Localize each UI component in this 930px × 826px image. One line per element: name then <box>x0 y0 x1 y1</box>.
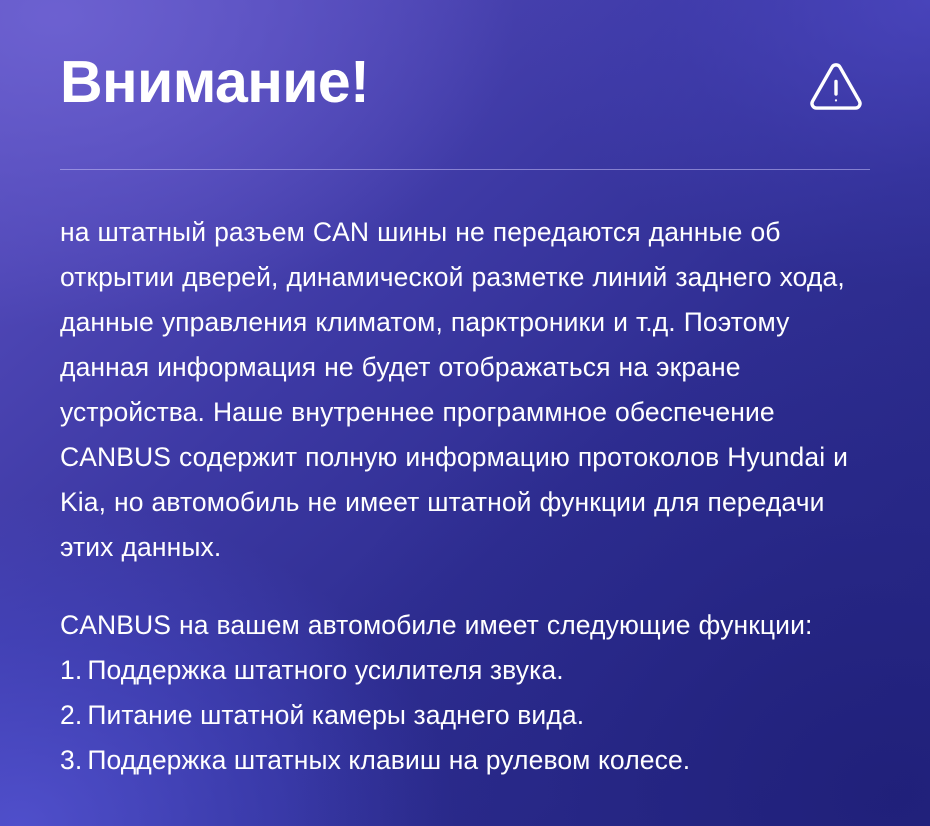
features-list: 1.Поддержка штатного усилителя звука. 2.… <box>60 648 870 783</box>
banner-content: Внимание! на штатный разъем CAN шины не … <box>0 0 930 783</box>
header-divider <box>60 169 870 170</box>
body-paragraph-features-intro: CANBUS на вашем автомобиле имеет следующ… <box>60 603 870 648</box>
banner-body: на штатный разъем CAN шины не передаются… <box>60 169 870 783</box>
body-paragraph-primary: на штатный разъем CAN шины не передаются… <box>60 210 870 570</box>
list-item-number: 3. <box>60 745 82 775</box>
list-item-number: 2. <box>60 700 82 730</box>
list-item-label: Поддержка штатного усилителя звука. <box>87 655 563 685</box>
list-item: 1.Поддержка штатного усилителя звука. <box>60 648 870 693</box>
warning-triangle-icon <box>808 60 864 116</box>
list-item-number: 1. <box>60 655 82 685</box>
warning-banner: Внимание! на штатный разъем CAN шины не … <box>0 0 930 826</box>
page-title: Внимание! <box>60 0 369 112</box>
list-item: 3.Поддержка штатных клавиш на рулевом ко… <box>60 738 870 783</box>
list-item-label: Поддержка штатных клавиш на рулевом коле… <box>87 745 690 775</box>
list-item: 2.Питание штатной камеры заднего вида. <box>60 693 870 738</box>
list-item-label: Питание штатной камеры заднего вида. <box>87 700 584 730</box>
banner-header: Внимание! <box>60 0 870 169</box>
